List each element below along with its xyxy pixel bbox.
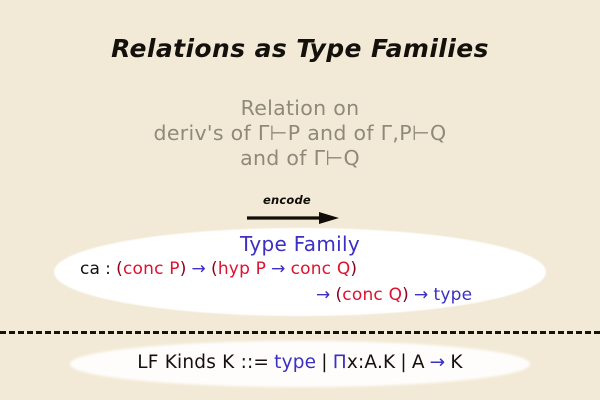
arrow-3: → xyxy=(316,285,330,305)
type-family-block: Type Family ca:(conc P)→(hyp P→conc Q) →… xyxy=(54,228,546,316)
encode-arrow-group: encode xyxy=(245,193,355,227)
arrow-5: → xyxy=(430,352,446,373)
relation-line-2: deriv's of Γ⊢P and of Γ,P⊢Q xyxy=(0,121,600,146)
right-arrow-icon xyxy=(245,211,341,225)
arrow-2: → xyxy=(271,259,285,279)
close-paren-3: ) xyxy=(402,285,409,305)
arrow-1: → xyxy=(192,259,206,279)
close-paren-1: ) xyxy=(180,259,187,279)
relation-line-1: Relation on xyxy=(0,96,600,121)
arrow-4: → xyxy=(414,285,428,305)
conc-q-token-1: conc Q xyxy=(291,259,351,279)
lf-kinds-grammar: LF Kinds K ::=type|Πx:A.K|A→K xyxy=(0,352,600,373)
page-title: Relations as Type Families xyxy=(0,34,600,63)
type-family-signature-line-2: →(conc Q)→type xyxy=(316,285,472,305)
alternation-bar-2: | xyxy=(400,352,406,373)
close-paren-2: ) xyxy=(350,259,357,279)
type-keyword-1: type xyxy=(433,285,472,305)
hyp-p-token: hyp P xyxy=(218,259,266,279)
conc-p-token: conc P xyxy=(123,259,180,279)
type-keyword-2: type xyxy=(274,352,316,373)
relation-description: Relation on deriv's of Γ⊢P and of Γ,P⊢Q … xyxy=(0,96,600,171)
section-divider xyxy=(0,331,600,334)
kind-k-token: K xyxy=(450,352,462,373)
open-paren-2: ( xyxy=(211,259,218,279)
conc-q-token-2: conc Q xyxy=(342,285,402,305)
relation-line-3: and of Γ⊢Q xyxy=(0,146,600,171)
constant-name: ca xyxy=(80,259,100,279)
lf-kinds-label: LF Kinds K ::= xyxy=(137,352,269,373)
encode-label: encode xyxy=(263,193,311,207)
pi-binding-token: x:A.K xyxy=(347,352,396,373)
type-family-heading: Type Family xyxy=(54,232,546,256)
alternation-bar-1: | xyxy=(321,352,327,373)
type-family-signature-line-1: ca:(conc P)→(hyp P→conc Q) xyxy=(80,259,357,279)
slide-canvas: Relations as Type Families Relation on d… xyxy=(0,0,600,400)
pi-symbol-icon: Π xyxy=(333,352,347,373)
colon-token: : xyxy=(105,259,111,279)
open-paren-1: ( xyxy=(116,259,123,279)
type-a-token: A xyxy=(412,352,425,373)
